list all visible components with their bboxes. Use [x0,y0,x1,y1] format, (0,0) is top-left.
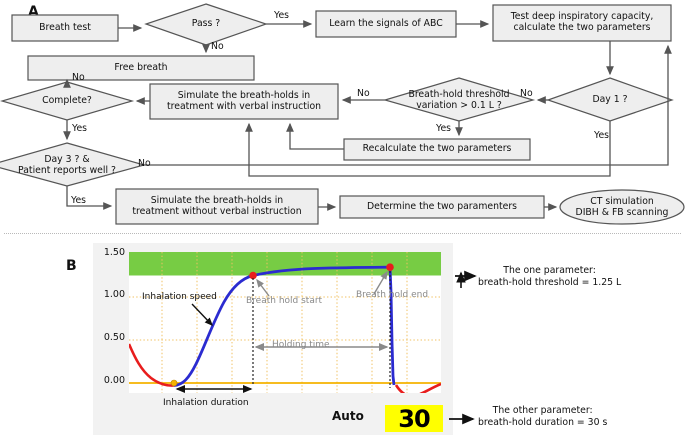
annotation-holding-time: Holding time [272,340,330,350]
node-determine [340,196,544,218]
waveform-plot [129,252,441,393]
edge-label-day1-no: No [520,88,533,99]
note-other-parameter: The other parameter: breath-hold duratio… [478,405,607,429]
annotation-inhalation-duration: Inhalation duration [163,398,249,408]
note-one-line1: The one parameter: [478,265,621,277]
node-learn-signals [316,11,456,37]
node-pass [146,4,266,45]
auto-label: Auto [332,409,364,423]
ytick-1-00: 1.00 [91,289,125,300]
edge-label-variation-no: No [357,88,370,99]
edge-label-day1-yes: Yes [594,130,609,141]
edge-label-complete-no: No [72,72,85,83]
edge-recalculate-simulate [290,124,344,149]
edge-label-variation-yes: Yes [436,123,451,134]
node-day3 [0,143,144,186]
note-one-line2: breath-hold threshold = 1.25 L [478,277,621,289]
edge-label-day3-no: No [138,158,151,169]
note-other-line2: breath-hold duration = 30 s [478,417,607,429]
node-recalculate [344,139,530,160]
node-simulate-verbal [150,84,338,119]
series-breath-hold [174,267,394,385]
waveform-svg [129,252,441,393]
series-free-breathing-right [396,384,441,393]
leader-inhalation-speed [192,304,212,325]
series-free-breathing-left [129,344,174,386]
annotation-breath-hold-start: Breath hold start [246,296,322,306]
node-ct-simulation [560,190,684,224]
node-complete [2,82,132,120]
auto-value-display: 30 [385,405,443,432]
node-simulate-noverbal [116,189,318,224]
panel-divider [4,233,681,235]
edge-label-complete-yes: Yes [72,123,87,134]
panel-b-letter: B [66,258,77,274]
annotation-breath-hold-end: Breath hold end [356,290,428,300]
drop-lines [253,271,390,388]
edge-label-day3-yes: Yes [71,195,86,206]
ytick-0-00: 0.00 [91,375,125,386]
node-threshold [385,78,533,121]
node-breath-test [12,15,118,41]
marker-inhalation-start [171,380,177,386]
edge-label-pass-no: No [211,41,224,52]
note-other-line1: The other parameter: [478,405,607,417]
node-day1 [548,78,672,121]
edge-label-pass-yes: Yes [274,10,289,21]
node-test-capacity [493,5,671,41]
ytick-1-50: 1.50 [91,247,125,258]
figure-root: A [0,0,685,440]
ytick-0-50: 0.50 [91,332,125,343]
note-one-parameter: The one parameter: breath-hold threshold… [478,265,621,289]
flowchart-canvas [0,0,685,232]
marker-breath-hold-end [386,263,394,271]
annotation-inhalation-speed: Inhalation speed [142,292,217,302]
threshold-band [129,252,441,276]
node-free-breath [28,56,254,80]
